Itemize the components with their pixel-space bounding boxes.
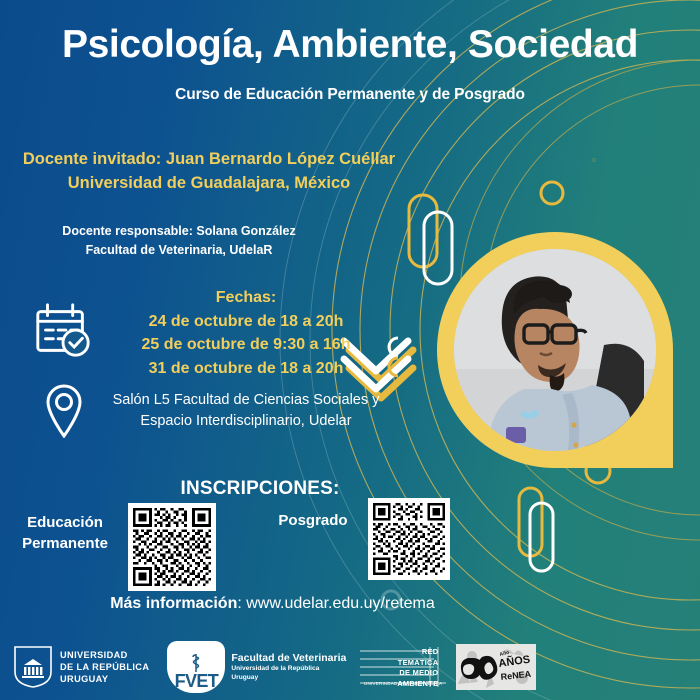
speaker-photo bbox=[437, 232, 673, 468]
photo-image bbox=[454, 249, 656, 451]
more-info-label: Más información bbox=[110, 595, 237, 612]
fvet-text: Facultad de Veterinaria Universidad de l… bbox=[231, 652, 346, 682]
red-line-3: DE MEDIO bbox=[397, 668, 438, 679]
more-info: Más información: www.udelar.edu.uy/retem… bbox=[0, 595, 545, 613]
page-subtitle: Curso de Educación Permanente y de Posgr… bbox=[0, 86, 700, 104]
logo-fvet: FVET Facultad de Veterinaria Universidad… bbox=[167, 641, 346, 693]
dates-text: Fechas: 24 de octubre de 18 a 20h 25 de … bbox=[96, 286, 396, 381]
qr-code-posgrado[interactable] bbox=[368, 498, 450, 580]
udelar-line-1: UNIVERSIDAD bbox=[60, 649, 149, 661]
more-info-separator: : bbox=[237, 595, 246, 612]
fvet-line-1: Facultad de Veterinaria bbox=[231, 652, 346, 665]
guest-speaker-name: Docente invitado: Juan Bernardo López Cu… bbox=[14, 148, 404, 172]
fvet-acronym: FVET bbox=[175, 672, 219, 690]
logo-udelar: UNIVERSIDAD DE LA REPÚBLICA URUGUAY bbox=[14, 646, 149, 688]
udelar-text: UNIVERSIDAD DE LA REPÚBLICA URUGUAY bbox=[60, 649, 149, 685]
location-line-1: Salón L5 Facultad de Ciencias Sociales y bbox=[96, 390, 396, 411]
footer-logos: UNIVERSIDAD DE LA REPÚBLICA URUGUAY FVET… bbox=[0, 634, 700, 700]
more-info-url[interactable]: www.udelar.edu.uy/retema bbox=[246, 595, 435, 612]
qr-code-educacion-permanente[interactable] bbox=[128, 503, 216, 591]
fvet-badge: FVET bbox=[167, 641, 225, 693]
udelar-line-2: DE LA REPÚBLICA bbox=[60, 661, 149, 673]
qr-educacion-permanente-image[interactable] bbox=[133, 508, 211, 586]
page-title: Psicología, Ambiente, Sociedad bbox=[0, 24, 700, 67]
udelar-shield-icon bbox=[14, 646, 52, 688]
date-item: 25 de octubre de 9:30 a 16h bbox=[96, 333, 396, 357]
responsible-teacher-block: Docente responsable: Solana González Fac… bbox=[14, 222, 344, 260]
fvet-line-2: Universidad de la República bbox=[231, 665, 346, 673]
veterinary-caduceus-icon bbox=[186, 653, 206, 673]
fvet-line-3: Uruguay bbox=[231, 674, 346, 682]
inscription-label-posgrado: Posgrado bbox=[258, 512, 368, 529]
dates-label: Fechas: bbox=[96, 286, 396, 310]
poster-canvas: Psicología, Ambiente, Sociedad Curso de … bbox=[0, 0, 700, 700]
portrait-illustration bbox=[454, 249, 656, 451]
calendar-icon bbox=[32, 300, 94, 362]
location-line-2: Espacio Interdisciplinario, Udelar bbox=[96, 411, 396, 432]
date-item: 31 de octubre de 18 a 20h bbox=[96, 357, 396, 381]
guest-speaker-block: Docente invitado: Juan Bernardo López Cu… bbox=[14, 148, 404, 196]
label-line-2: Permanente bbox=[10, 533, 120, 554]
red-line-2: TEMÁTICA bbox=[397, 658, 438, 669]
map-pin-icon bbox=[42, 382, 86, 438]
qr-posgrado-image[interactable] bbox=[373, 503, 445, 575]
udelar-line-3: URUGUAY bbox=[60, 673, 149, 685]
label-line-1: Educación bbox=[10, 512, 120, 533]
logo-renea-20-anos: AÑOS ReNEA Año bbox=[456, 644, 536, 690]
responsible-teacher-affiliation: Facultad de Veterinaria, UdelaR bbox=[14, 241, 344, 260]
inscriptions-title: INSCRIPCIONES: bbox=[0, 478, 520, 500]
red-line-1: RED bbox=[397, 647, 438, 658]
guest-speaker-affiliation: Universidad de Guadalajara, México bbox=[14, 172, 404, 196]
renea-anniversary-icon: AÑOS ReNEA Año bbox=[456, 644, 536, 690]
location-text: Salón L5 Facultad de Ciencias Sociales y… bbox=[96, 390, 396, 432]
responsible-teacher-name: Docente responsable: Solana González bbox=[14, 222, 344, 241]
date-item: 24 de octubre de 18 a 20h bbox=[96, 310, 396, 334]
inscription-label-educacion-permanente: Educación Permanente bbox=[10, 512, 120, 554]
logo-red-tematica: RED TEMÁTICA DE MEDIO AMBIENTE UNIVERSID… bbox=[360, 645, 446, 689]
red-tematica-subtitle: UNIVERSIDAD DE LA REPÚBLICA bbox=[364, 681, 442, 686]
